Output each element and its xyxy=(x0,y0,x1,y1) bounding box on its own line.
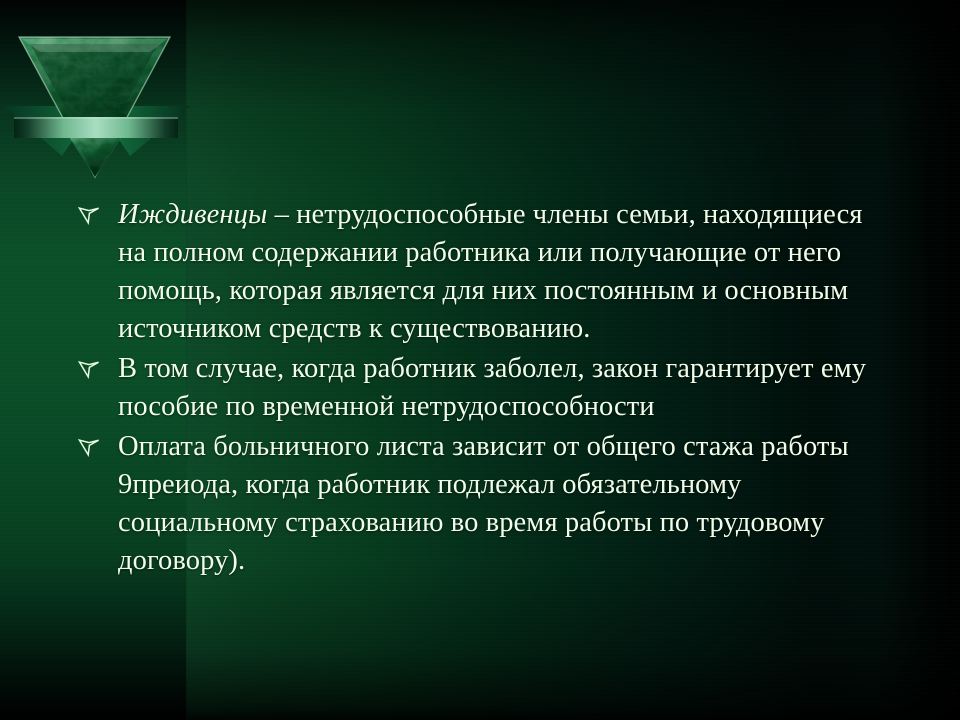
chevron-check-bullet-icon xyxy=(74,350,118,388)
logo-horizontal-bar xyxy=(14,117,178,138)
chevron-check-bullet-icon xyxy=(74,428,118,466)
list-item[interactable]: Иждивенцы – нетрудоспособные члены семьи… xyxy=(74,196,894,348)
list-item-text: Иждивенцы – нетрудоспособные члены семьи… xyxy=(118,196,894,348)
slide-body-content: Иждивенцы – нетрудоспособные члены семьи… xyxy=(74,196,894,582)
marble-inverted-triangle-logo xyxy=(0,22,200,192)
chevron-check-bullet-icon xyxy=(74,196,118,234)
presentation-slide: Иждивенцы – нетрудоспособные члены семьи… xyxy=(0,0,960,720)
list-item[interactable]: В том случае, когда работник заболел, за… xyxy=(74,350,894,426)
list-item-lead-term: Иждивенцы xyxy=(118,199,267,230)
list-item[interactable]: Оплата больничного листа зависит от обще… xyxy=(74,428,894,580)
list-item-text: Оплата больничного листа зависит от обще… xyxy=(118,428,894,580)
list-item-text: В том случае, когда работник заболел, за… xyxy=(118,350,894,426)
